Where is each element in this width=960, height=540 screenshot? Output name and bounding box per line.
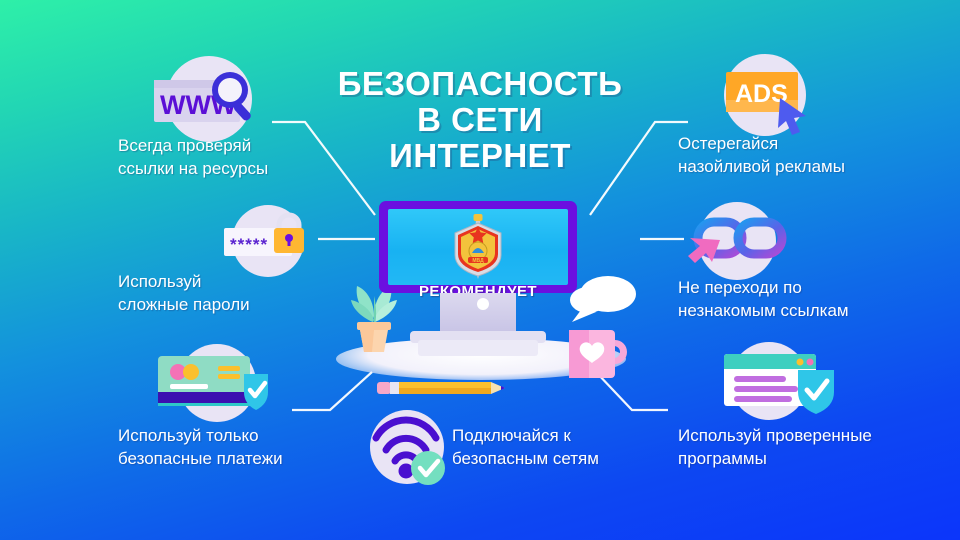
tip-unknown-links-label: Не переходи по незнакомым ссылкам	[678, 276, 928, 322]
title-line-3: ИНТЕРНЕТ	[300, 138, 660, 174]
broken-chain-icon[interactable]	[676, 208, 798, 274]
line-safe-payments	[292, 372, 372, 410]
www-search-icon[interactable]: WWW	[152, 64, 264, 138]
tip-beware-ads-label: Остерегайся назойливой рекламы	[678, 132, 918, 178]
emblem-label: МВД	[472, 258, 484, 264]
speech-bubble	[566, 272, 640, 328]
check-badge	[411, 451, 445, 485]
tip-safe-networks-label: Подключайся к безопасным сетям	[452, 424, 662, 470]
shield-check-badge	[798, 370, 834, 414]
password-lock-icon[interactable]: *****	[224, 210, 320, 272]
pencil	[377, 378, 515, 398]
infographic-poster: БЕЗОПАСНОСТЬ В СЕТИ ИНТЕРНЕТ WWW Всегда …	[0, 0, 960, 540]
page-title: БЕЗОПАСНОСТЬ В СЕТИ ИНТЕРНЕТ	[300, 66, 660, 174]
monitor-power-dot	[475, 296, 491, 312]
mvd-emblem: МВД	[388, 209, 568, 285]
title-line-1: БЕЗОПАСНОСТЬ	[300, 66, 660, 102]
wifi-check-icon[interactable]	[366, 412, 458, 488]
cursor-arrow-pink	[688, 238, 720, 263]
browser-shield-icon[interactable]	[722, 350, 846, 416]
tip-check-links-label: Всегда проверяй ссылки на ресурсы	[118, 134, 328, 180]
tip-trusted-software-label: Используй проверенные программы	[678, 424, 938, 470]
password-mask: *****	[230, 235, 268, 254]
monitor-screen[interactable]: МВД	[388, 209, 568, 285]
keyboard[interactable]	[418, 340, 538, 356]
ads-banner-icon[interactable]: ADS	[722, 62, 826, 138]
heart-mug	[565, 322, 637, 384]
tip-strong-passwords-label: Используй сложные пароли	[118, 270, 338, 316]
title-line-2: В СЕТИ	[300, 102, 660, 138]
padlock	[274, 215, 304, 253]
tip-safe-payments-label: Используй только безопасные платежи	[118, 424, 358, 470]
credit-card-shield-icon[interactable]	[158, 352, 276, 416]
